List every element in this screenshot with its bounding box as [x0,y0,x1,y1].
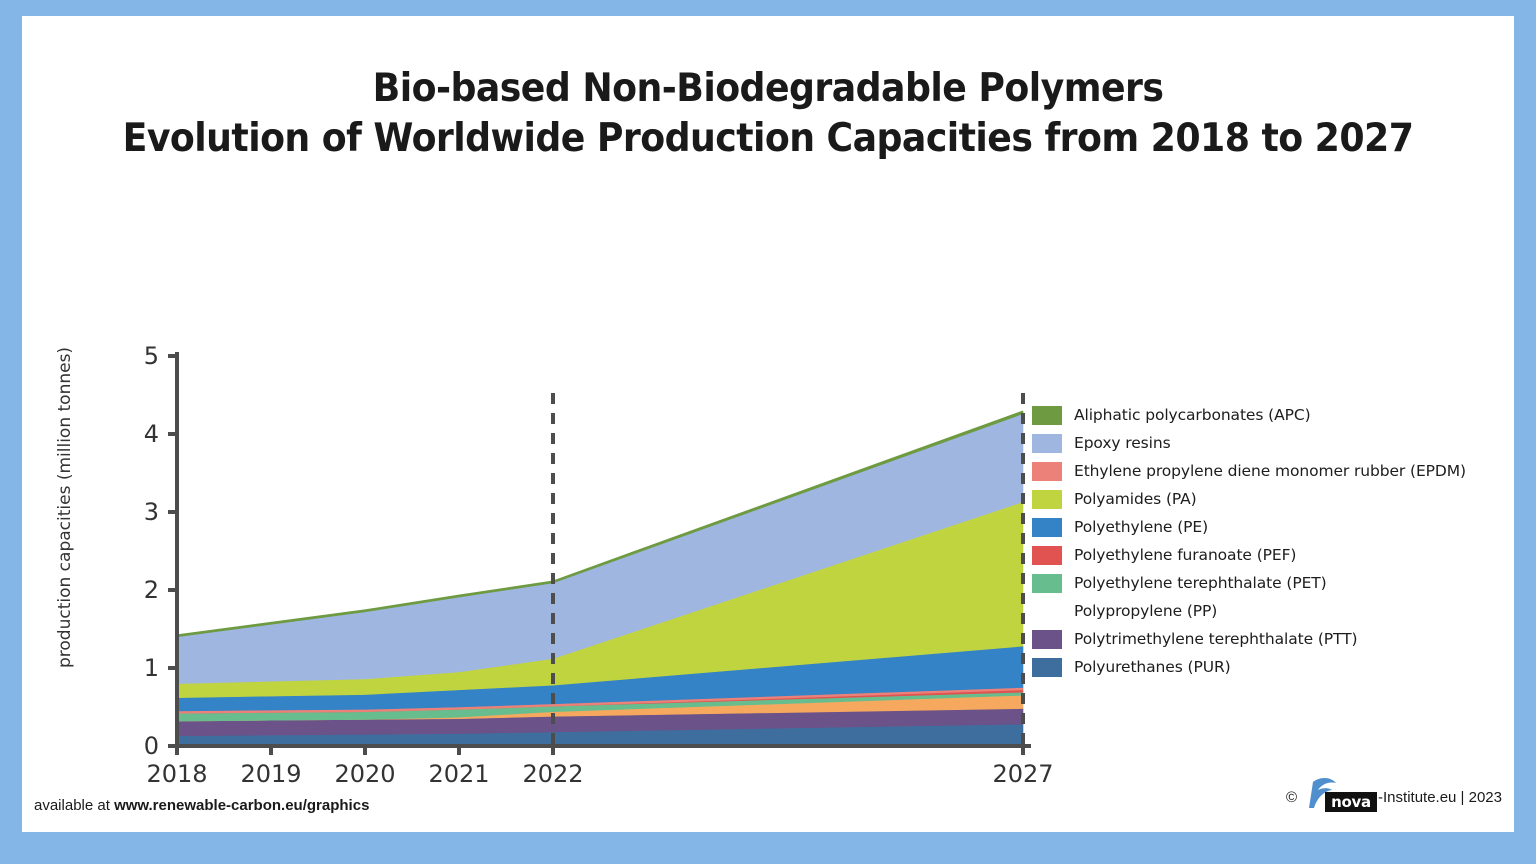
legend-item[interactable]: Polyethylene terephthalate (PET) [1032,569,1502,597]
footer-url[interactable]: www.renewable-carbon.eu/graphics [114,797,369,814]
legend-swatch [1032,546,1062,565]
x-tick-label: 2020 [334,760,395,788]
legend-item[interactable]: Epoxy resins [1032,429,1502,457]
chart-legend: Aliphatic polycarbonates (APC)Epoxy resi… [1032,401,1502,681]
legend-item[interactable]: Aliphatic polycarbonates (APC) [1032,401,1502,429]
legend-item[interactable]: Polytrimethylene terephthalate (PTT) [1032,625,1502,653]
x-tick-label: 2018 [146,760,207,788]
legend-label: Polypropylene (PP) [1074,602,1217,620]
footer-prefix: available at [34,797,114,814]
y-tick-label: 3 [144,498,159,526]
legend-label: Polyurethanes (PUR) [1074,658,1231,676]
legend-swatch [1032,630,1062,649]
y-tick-label: 5 [144,342,159,370]
legend-swatch [1032,658,1062,677]
legend-item[interactable]: Polyamides (PA) [1032,485,1502,513]
legend-swatch [1032,602,1062,621]
x-tick-label: 2027 [992,760,1053,788]
legend-swatch [1032,434,1062,453]
nova-logo-icon: nova [1303,780,1377,814]
footer-credit: © nova -Institute.eu | 2023 [1286,780,1502,814]
legend-swatch [1032,518,1062,537]
y-tick-label: 0 [144,732,159,760]
legend-label: Polyethylene furanoate (PEF) [1074,546,1296,564]
footer-availability: available at www.renewable-carbon.eu/gra… [34,797,369,814]
legend-label: Polytrimethylene terephthalate (PTT) [1074,630,1357,648]
legend-label: Aliphatic polycarbonates (APC) [1074,406,1311,424]
legend-swatch [1032,490,1062,509]
poster-canvas: Bio-based Non-Biodegradable Polymers Evo… [22,16,1514,832]
area-series-group [177,411,1023,746]
nova-logo-text: nova [1325,792,1377,812]
footer-institute-text: -Institute.eu | 2023 [1378,789,1502,806]
y-tick-label: 2 [144,576,159,604]
legend-label: Ethylene propylene diene monomer rubber … [1074,462,1466,480]
legend-swatch [1032,462,1062,481]
x-tick-label: 2021 [428,760,489,788]
legend-item[interactable]: Polyethylene furanoate (PEF) [1032,541,1502,569]
legend-item[interactable]: Ethylene propylene diene monomer rubber … [1032,457,1502,485]
legend-swatch [1032,574,1062,593]
legend-label: Polyethylene (PE) [1074,518,1208,536]
y-tick-label: 4 [144,420,159,448]
legend-swatch [1032,406,1062,425]
legend-item[interactable]: Polyethylene (PE) [1032,513,1502,541]
poster-page: Bio-based Non-Biodegradable Polymers Evo… [0,0,1536,864]
y-axis-title: production capacities (million tonnes) [55,368,75,668]
y-tick-label: 1 [144,654,159,682]
legend-label: Epoxy resins [1074,434,1171,452]
x-tick-label: 2022 [522,760,583,788]
copyright-icon: © [1286,789,1297,806]
legend-label: Polyethylene terephthalate (PET) [1074,574,1327,592]
legend-item[interactable]: Polypropylene (PP) [1032,597,1502,625]
legend-item[interactable]: Polyurethanes (PUR) [1032,653,1502,681]
legend-label: Polyamides (PA) [1074,490,1197,508]
x-tick-label: 2019 [240,760,301,788]
